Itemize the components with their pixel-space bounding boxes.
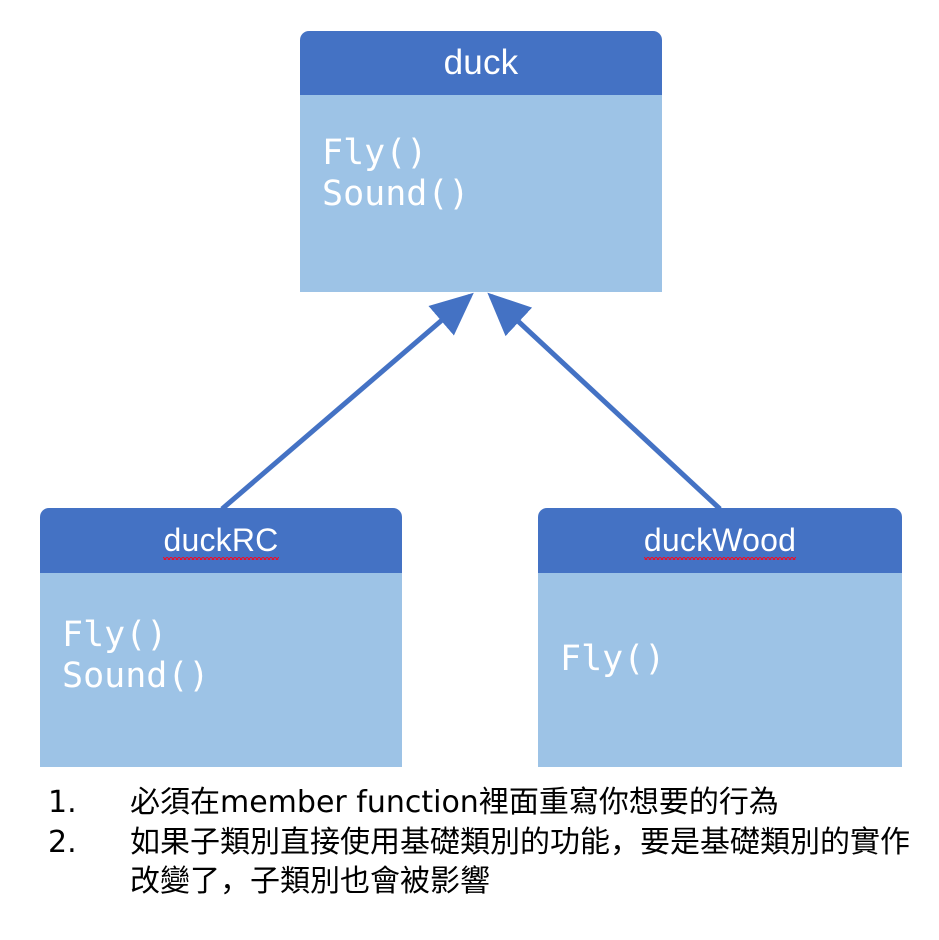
class-box-duck[interactable]: duck Fly() Sound() xyxy=(300,31,662,292)
notes-list: 1. 必須在member function裡面重寫你想要的行為 2. 如果子類別… xyxy=(48,783,918,902)
class-title-duckwood: duckWood xyxy=(644,522,796,559)
note-text: 如果子類別直接使用基礎類別的功能，要是基礎類別的實作改變了，子類別也會被影響 xyxy=(130,823,918,902)
class-header-duck[interactable]: duck xyxy=(300,31,662,95)
note-number: 1. xyxy=(48,783,130,823)
method-item: Fly() xyxy=(62,615,402,656)
note-number: 2. xyxy=(48,823,130,863)
class-title-duckrc: duckRC xyxy=(163,522,278,559)
class-body-duckwood: Fly() xyxy=(538,573,902,767)
class-title-duck: duck xyxy=(444,43,519,83)
connector-duckwood-to-duck xyxy=(491,296,720,509)
connector-duckrc-to-duck xyxy=(222,296,470,509)
method-item: Fly() xyxy=(560,639,902,680)
note-item: 2. 如果子類別直接使用基礎類別的功能，要是基礎類別的實作改變了，子類別也會被影… xyxy=(48,823,918,902)
method-item: Sound() xyxy=(322,174,662,215)
note-text: 必須在member function裡面重寫你想要的行為 xyxy=(130,783,918,823)
class-header-duckwood[interactable]: duckWood xyxy=(538,508,902,573)
slide-canvas: duck Fly() Sound() duckRC Fly() Sound() … xyxy=(0,0,939,940)
class-header-duckrc[interactable]: duckRC xyxy=(40,508,402,573)
method-item: Fly() xyxy=(322,133,662,174)
method-item: Sound() xyxy=(62,656,402,697)
class-body-duck: Fly() Sound() xyxy=(300,95,662,292)
note-item: 1. 必須在member function裡面重寫你想要的行為 xyxy=(48,783,918,823)
class-box-duckwood[interactable]: duckWood Fly() xyxy=(538,508,902,767)
class-body-duckrc: Fly() Sound() xyxy=(40,573,402,767)
class-box-duckrc[interactable]: duckRC Fly() Sound() xyxy=(40,508,402,767)
